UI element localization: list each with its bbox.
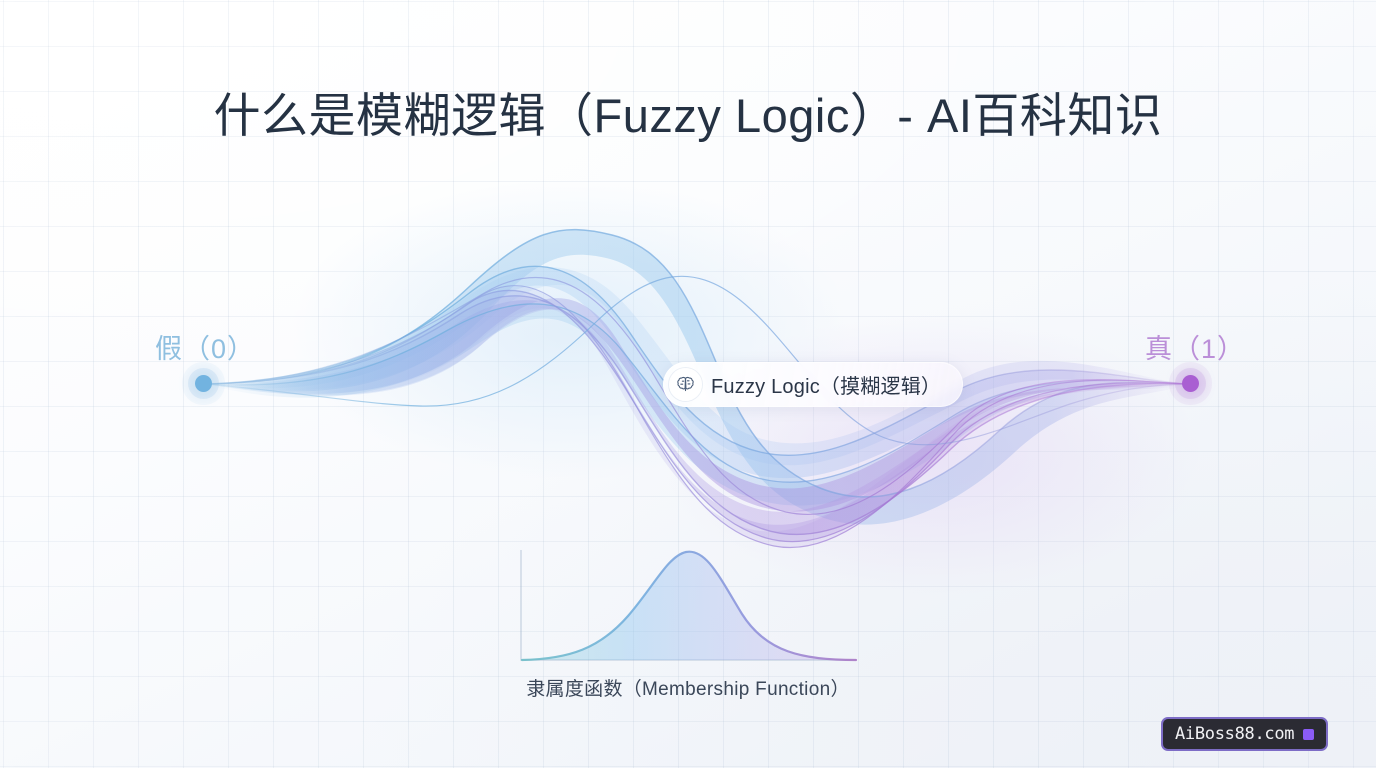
purple-glow xyxy=(660,315,1200,595)
watermark-text: AiBoss88.com xyxy=(1175,724,1294,744)
membership-function-caption: 隶属度函数（Membership Function） xyxy=(0,674,1376,701)
flow-line-5 xyxy=(204,290,1190,541)
watermark-badge: AiBoss88.com xyxy=(1161,717,1328,751)
page-title: 什么是模糊逻辑（Fuzzy Logic）- AI百科知识 xyxy=(0,88,1376,144)
true-endpoint-label: 真（1） xyxy=(1145,327,1245,366)
ribbon-purple-3 xyxy=(204,290,1190,541)
membership-curve-group xyxy=(521,550,856,660)
slide-canvas: 什么是模糊逻辑（Fuzzy Logic）- AI百科知识 xyxy=(0,0,1376,768)
ribbon-purple-2 xyxy=(204,296,1190,535)
fuzzy-logic-badge[interactable]: Fuzzy Logic（摸糊逻辑） xyxy=(663,362,963,407)
flow-line-2 xyxy=(204,266,1190,455)
flow-line-4 xyxy=(204,296,1190,535)
blue-glow xyxy=(290,180,850,480)
watermark-square-icon xyxy=(1303,729,1314,740)
true-endpoint-dot[interactable] xyxy=(1182,375,1199,392)
membership-line xyxy=(522,552,856,660)
brain-icon xyxy=(669,368,702,401)
inset-axis xyxy=(521,550,856,660)
fuzzy-logic-badge-label: Fuzzy Logic（摸糊逻辑） xyxy=(711,370,941,399)
flow-line-7 xyxy=(204,276,1190,444)
false-endpoint-label: 假（0） xyxy=(155,327,255,366)
flow-line-6 xyxy=(204,286,1190,548)
ribbon-purple-4 xyxy=(204,286,1190,548)
false-endpoint-dot[interactable] xyxy=(195,375,212,392)
membership-area xyxy=(522,552,856,660)
